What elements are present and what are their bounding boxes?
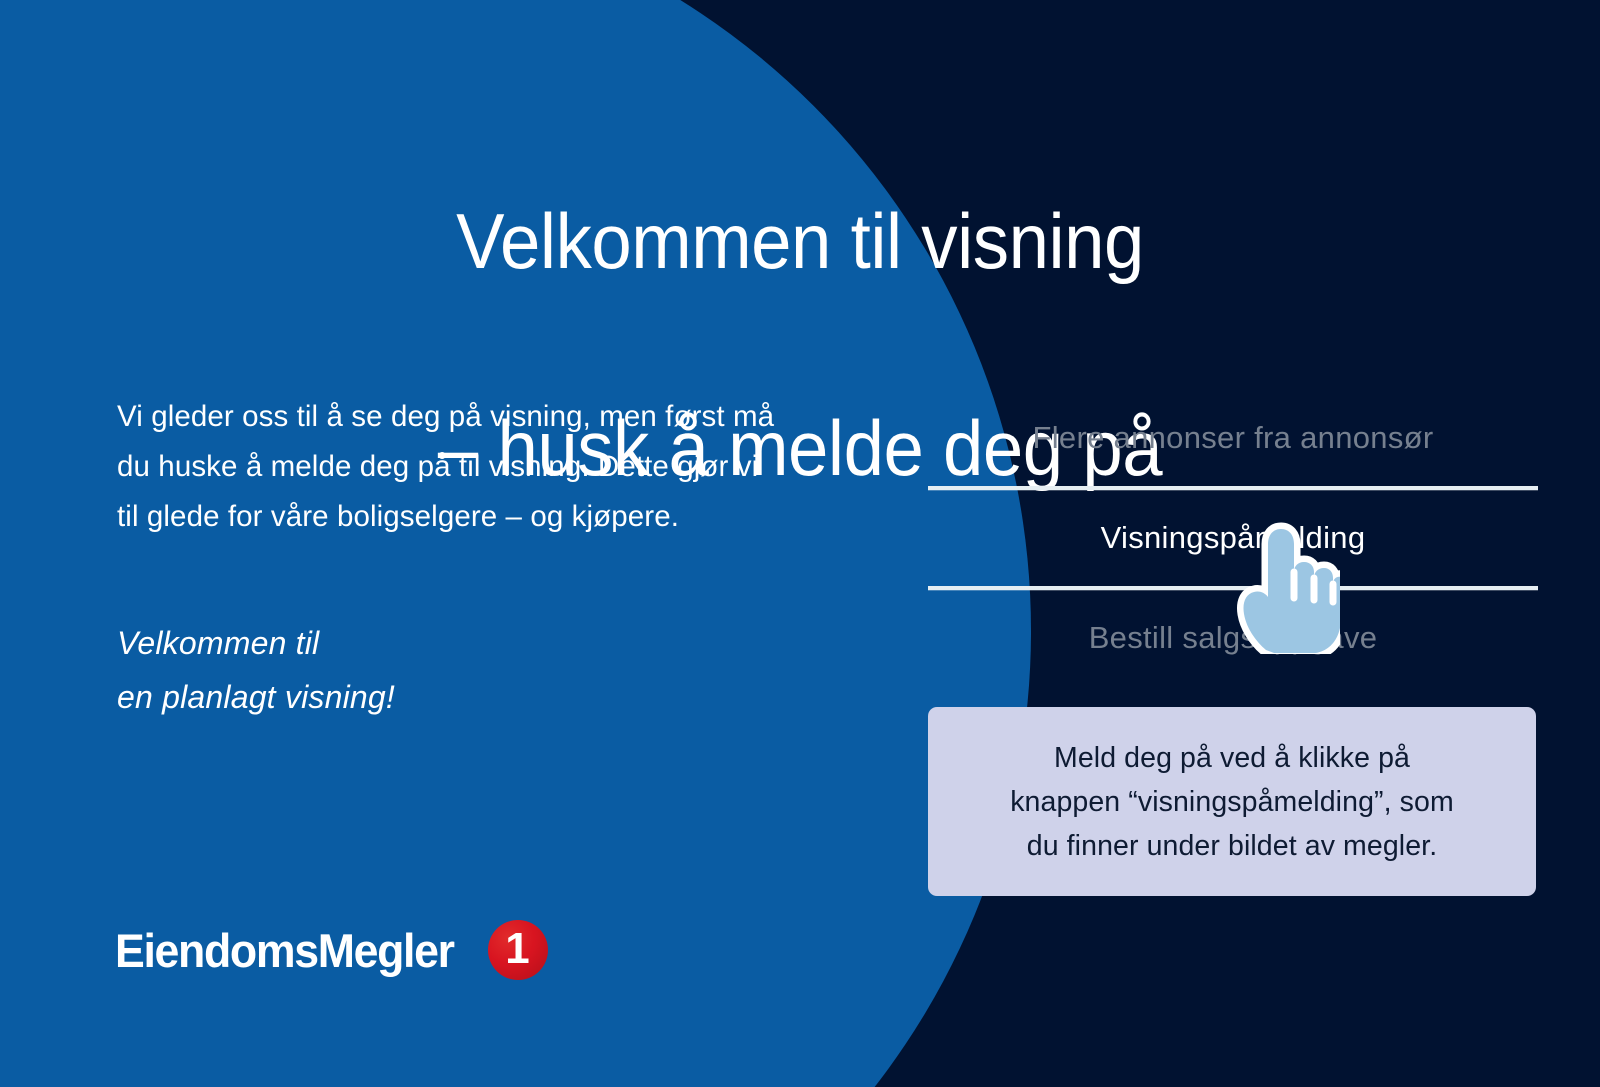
menu-item-label: Bestill salgsoppgave (1089, 620, 1378, 656)
menu-item-label: Flere annonser fra annonsør (1033, 420, 1434, 456)
eiendomsmegler1-logo: EiendomsMegler 1 (115, 920, 548, 980)
annonse-action-menu: Flere annonser fra annonsør Visningspåme… (928, 390, 1538, 686)
intro-paragraph: Vi gleder oss til å se deg på visning, m… (117, 392, 877, 542)
instruction-tooltip: Meld deg på ved å klikke på knappen “vis… (928, 707, 1536, 896)
menu-item-label: Visningspåmelding (1101, 520, 1366, 556)
left-content-column: Vi gleder oss til å se deg på visning, m… (117, 392, 877, 724)
logo-number-badge-icon: 1 (488, 920, 548, 980)
instruction-tooltip-text: Meld deg på ved å klikke på knappen “vis… (988, 736, 1476, 868)
menu-item-flere-annonser[interactable]: Flere annonser fra annonsør (928, 390, 1538, 486)
welcome-emphasis-text: Velkommen til en planlagt visning! (117, 616, 877, 724)
logo-badge-number: 1 (488, 927, 548, 971)
menu-item-bestill-salgsoppgave[interactable]: Bestill salgsoppgave (928, 590, 1538, 686)
slide-canvas: Velkommen til visning – husk å melde deg… (0, 0, 1600, 1087)
page-title-line-1: Velkommen til visning (56, 190, 1544, 294)
logo-wordmark: EiendomsMegler (115, 927, 454, 974)
menu-item-visningspamelding[interactable]: Visningspåmelding (928, 490, 1538, 586)
